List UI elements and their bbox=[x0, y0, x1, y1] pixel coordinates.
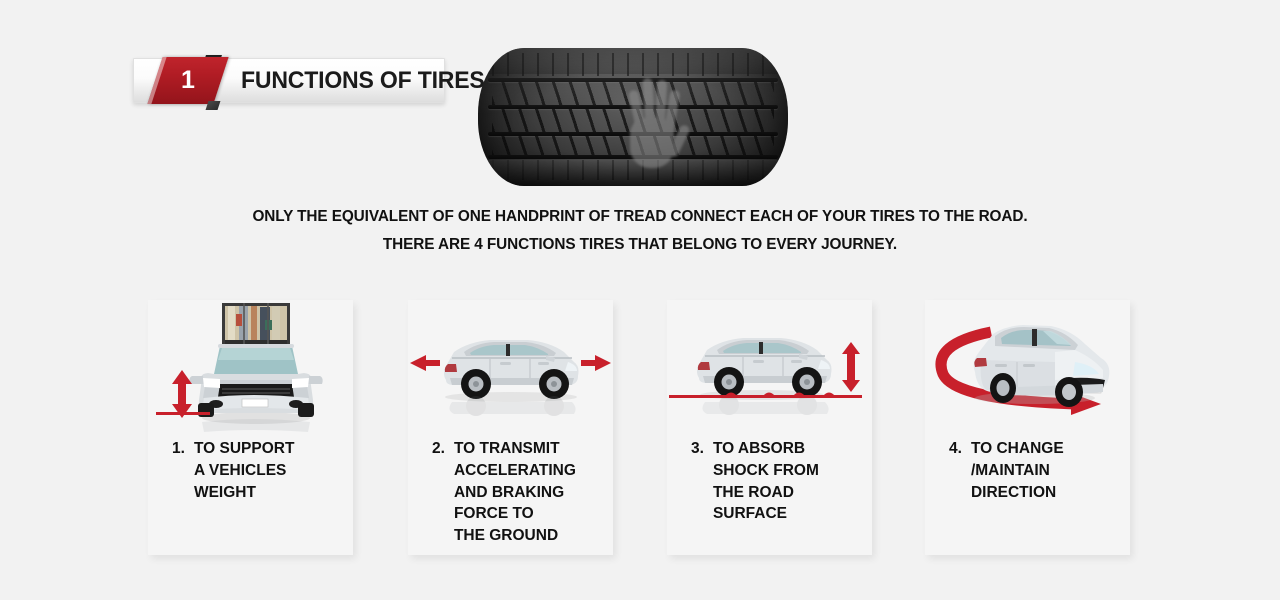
weight-arrow-indicator bbox=[148, 300, 353, 435]
function-card-2: 2. TO TRANSMIT ACCELERATING AND BRAKING … bbox=[408, 300, 613, 555]
card-3-line-4: SURFACE bbox=[713, 503, 864, 525]
card-1-illustration bbox=[148, 300, 353, 435]
road-line bbox=[669, 395, 862, 398]
card-4-line-3: DIRECTION bbox=[971, 482, 1122, 504]
card-4-text: 4. TO CHANGE /MAINTAIN DIRECTION bbox=[949, 438, 1122, 503]
infographic-page: 1 FUNCTIONS OF TIRES bbox=[0, 0, 1280, 600]
card-1-line-1: TO SUPPORT bbox=[194, 438, 345, 460]
card-2-illustration bbox=[408, 300, 613, 435]
card-3-line-3: THE ROAD bbox=[713, 482, 864, 504]
section-title: FUNCTIONS OF TIRES bbox=[241, 67, 485, 95]
section-number-label: 1 bbox=[155, 65, 221, 95]
card-3-line-1: TO ABSORB bbox=[713, 438, 864, 460]
card-4-label: TO CHANGE /MAINTAIN DIRECTION bbox=[971, 438, 1122, 503]
car-angled-illustration bbox=[925, 300, 1130, 435]
subtitle-block: ONLY THE EQUIVALENT OF ONE HANDPRINT OF … bbox=[0, 203, 1280, 259]
card-4-line-2: /MAINTAIN bbox=[971, 460, 1122, 482]
function-card-1: 1. TO SUPPORT A VEHICLES WEIGHT bbox=[148, 300, 353, 555]
card-4-line-1: TO CHANGE bbox=[971, 438, 1122, 460]
card-4-illustration bbox=[925, 300, 1130, 435]
card-2-label: TO TRANSMIT ACCELERATING AND BRAKING FOR… bbox=[454, 438, 605, 547]
arrow-left-icon bbox=[410, 355, 440, 371]
subtitle-line-2: THERE ARE 4 FUNCTIONS TIRES THAT BELONG … bbox=[6, 231, 1273, 259]
card-2-line-2: ACCELERATING bbox=[454, 460, 605, 482]
card-2-line-5: THE GROUND bbox=[454, 525, 605, 547]
shock-arrow-icon bbox=[842, 342, 860, 392]
function-card-4: 4. TO CHANGE /MAINTAIN DIRECTION bbox=[925, 300, 1130, 555]
card-3-line-2: SHOCK FROM bbox=[713, 460, 864, 482]
tire-icon bbox=[478, 48, 788, 186]
card-3-label: TO ABSORB SHOCK FROM THE ROAD SURFACE bbox=[713, 438, 864, 525]
acceleration-braking-arrows bbox=[408, 300, 613, 435]
card-3-text: 3. TO ABSORB SHOCK FROM THE ROAD SURFACE bbox=[691, 438, 864, 525]
bumpy-road-and-shock-arrow bbox=[667, 300, 872, 435]
tire-tread-row bbox=[492, 53, 774, 76]
function-card-3: 3. TO ABSORB SHOCK FROM THE ROAD SURFACE bbox=[667, 300, 872, 555]
card-1-line-2: A VEHICLES bbox=[194, 460, 345, 482]
card-4-number: 4. bbox=[949, 438, 962, 503]
card-2-line-3: AND BRAKING bbox=[454, 482, 605, 504]
section-header-banner: 1 FUNCTIONS OF TIRES bbox=[133, 58, 445, 103]
banner-fold-decoration bbox=[206, 101, 221, 110]
card-2-line-4: FORCE TO bbox=[454, 503, 605, 525]
card-1-line-3: WEIGHT bbox=[194, 482, 345, 504]
card-1-number: 1. bbox=[172, 438, 185, 503]
card-2-line-1: TO TRANSMIT bbox=[454, 438, 605, 460]
ground-baseline bbox=[156, 412, 210, 415]
card-3-number: 3. bbox=[691, 438, 704, 525]
tire-hero-image bbox=[478, 48, 788, 186]
card-2-text: 2. TO TRANSMIT ACCELERATING AND BRAKING … bbox=[432, 438, 605, 547]
tire-tread-row bbox=[492, 82, 774, 105]
tire-tread-row bbox=[492, 109, 774, 132]
card-2-number: 2. bbox=[432, 438, 445, 547]
subtitle-line-1: ONLY THE EQUIVALENT OF ONE HANDPRINT OF … bbox=[6, 203, 1273, 231]
card-1-label: TO SUPPORT A VEHICLES WEIGHT bbox=[194, 438, 345, 503]
card-1-text: 1. TO SUPPORT A VEHICLES WEIGHT bbox=[172, 438, 345, 503]
tire-groove bbox=[488, 155, 778, 159]
tire-shoulder-bottom bbox=[478, 160, 788, 186]
card-3-illustration bbox=[667, 300, 872, 435]
arrow-right-icon bbox=[581, 355, 611, 371]
